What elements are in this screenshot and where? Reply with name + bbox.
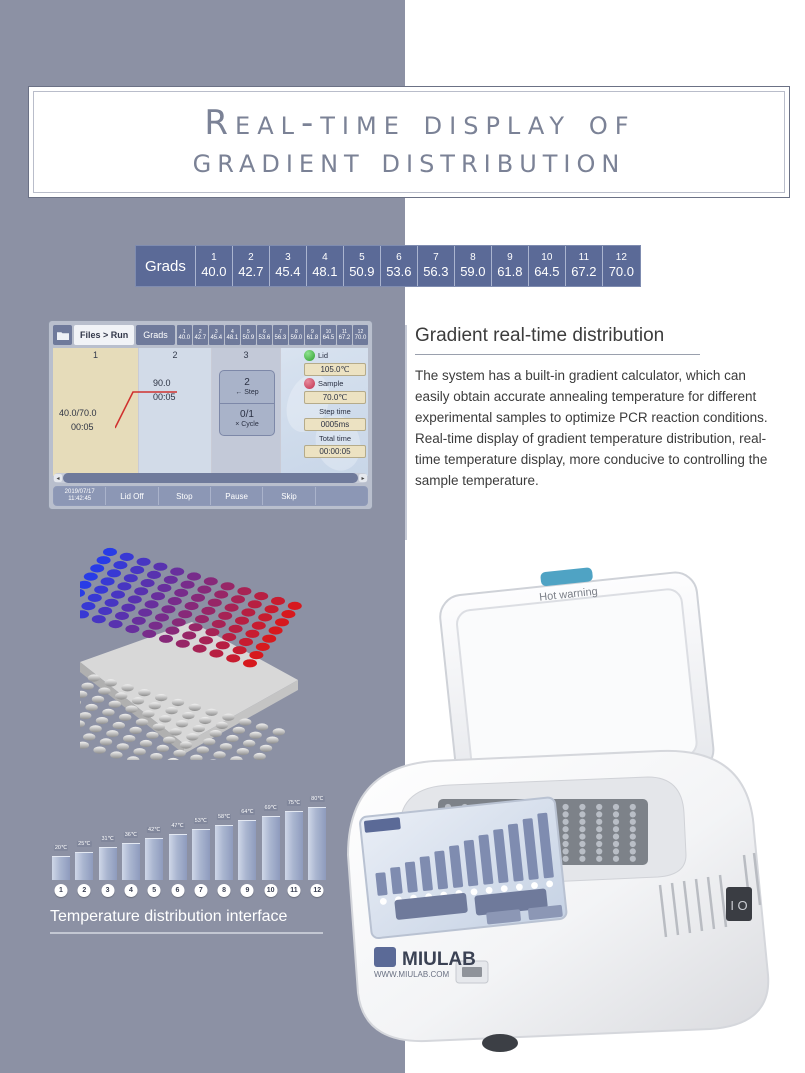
plate-well [117,582,131,590]
plate-tube [149,702,161,709]
pcr-machine-image: Hot warning I O [330,555,805,1055]
pcr-grads-cell: 859.0 [289,325,304,345]
pcr-sample-value: 70.0℃ [304,391,366,404]
plate-well [101,577,115,585]
plate-tube [109,701,121,708]
block-well [596,856,602,862]
plate-well [249,651,263,659]
block-well [613,804,619,810]
plate-well [109,620,123,628]
plate-tube [186,733,198,740]
plate-tube [205,709,217,716]
grads-index: 4 [322,252,328,264]
plate-well [153,563,167,571]
pcr-grads-strip: 140.0 242.7 345.4 448.1 550.9 653.6 756.… [177,325,368,345]
grads-cell: 11 67.2 [566,246,603,286]
grads-cell: 4 48.1 [307,246,344,286]
bar-group: 47℃6 [169,834,187,880]
block-well [579,856,585,862]
block-well [613,856,619,862]
plate-well [201,607,215,615]
bar-group: 36℃4 [122,843,140,880]
plate-well [130,566,144,574]
plate-tube [273,728,285,735]
plate-tube [203,738,215,745]
grads-table: Grads 1 40.0 2 42.7 3 45.4 4 48.1 5 50.9… [135,245,641,287]
block-well [613,826,619,832]
plate-well [80,610,89,618]
plate-tube [189,704,201,711]
plate-tube [190,755,202,760]
bar-rect [285,811,303,880]
plate-tube [197,746,209,753]
bar-rect [308,807,326,880]
pcr-grads-cell: 1064.5 [321,325,336,345]
plate-well [235,617,249,625]
plate-well [239,638,253,646]
plate-well [185,602,199,610]
grads-value: 40.0 [201,264,226,280]
brand-url-label: WWW.MIULAB.COM [374,970,449,979]
empty-button-slot[interactable] [316,487,367,505]
plate-well [214,590,228,598]
plate-well [128,595,142,603]
block-well [579,804,585,810]
bar-group: 80℃12 [308,807,326,880]
bar-rect [215,825,233,880]
plate-well [191,594,205,602]
bar-index-badge: 10 [264,884,277,897]
plate-tube [167,758,179,760]
grads-value: 53.6 [386,264,411,280]
plate-well [269,626,283,634]
plate-well [157,584,171,592]
plate-well [256,643,270,651]
plate-well [281,610,295,618]
plate-well [275,618,289,626]
grads-value: 64.5 [534,264,559,280]
block-well [596,841,602,847]
pcr-grads-cell: 1167.2 [337,325,352,345]
plate-well [248,600,262,608]
grads-cell: 9 61.8 [492,246,529,286]
pcr-grads-cell: 242.7 [193,325,208,345]
plate-tube [106,730,118,737]
plate-tube [165,707,177,714]
pcr-step-cycle-box[interactable]: 2 ← Step 0/1 × Cycle [219,370,275,436]
pcr-grads-value: 56.3 [275,335,287,342]
plate-well [164,576,178,584]
folder-icon[interactable] [53,325,72,345]
plate-well [103,548,117,556]
body-paragraph-2: Real-time display of gradient temperatur… [405,428,775,491]
pcr-grads-cell: 1270.0 [353,325,368,345]
plate-well [138,609,152,617]
plate-tube [93,747,105,754]
plate-well [155,613,169,621]
plate-well [81,602,95,610]
pcr-time: 11:42:45 [68,496,91,503]
plate-tube [230,756,242,760]
plate-tube [150,753,162,760]
bar-group: 58℃8 [215,825,233,880]
plate-well [252,622,266,630]
block-well [596,811,602,817]
pcr-grads-value: 64.5 [323,335,335,342]
plate-tube [102,709,114,716]
plate-well [221,582,235,590]
grads-index: 7 [433,252,439,264]
pcr-grads-cell: 756.3 [273,325,288,345]
pcr-total-time-label: Total time [304,434,366,443]
plate-well [147,571,161,579]
bar-index-badge: 2 [78,884,91,897]
plate-well [237,587,251,595]
bar-group: 20℃1 [52,856,70,880]
grads-index: 1 [211,252,217,264]
plate-tube [80,712,91,719]
bar-temp-label: 80℃ [310,796,324,802]
plate-well [124,574,138,582]
plate-tube [119,714,131,721]
plate-well [204,577,218,585]
plate-tube [138,689,150,696]
bar-temp-label: 75℃ [287,800,301,806]
grads-index: 8 [470,252,476,264]
section-heading: Gradient real-time distribution [405,325,775,347]
plate-well [120,553,134,561]
pcr-protocol-area: 1 2 3 40.0/70.0 00:05 90.0 00:05 2 ← Ste… [53,348,368,476]
plate-tube [220,743,232,750]
pcr-grads-value: 45.4 [210,335,222,342]
bar-temp-label: 36℃ [124,832,138,838]
block-well [630,826,636,832]
plate-well [187,572,201,580]
plate-well [182,631,196,639]
plate-well [229,625,243,633]
block-well [563,848,569,854]
pcr-sample-row: Sample [304,378,366,389]
pcr-grads-cell: 961.8 [305,325,320,345]
plate-tube [115,692,127,699]
plate-well [193,645,207,653]
plate-well [113,561,127,569]
plate-tube [260,745,272,752]
pcr-step2-duration: 00:05 [153,392,176,402]
plate-well [208,599,222,607]
bar-index-badge: 8 [218,884,231,897]
plate-tube [193,725,205,732]
bar-index-badge: 12 [311,884,324,897]
pcr-cycle-label: × Cycle [235,420,259,429]
plate-tube [182,712,194,719]
plate-well [226,654,240,662]
pcr-grads-value: 50.9 [243,335,255,342]
grads-value: 61.8 [497,264,522,280]
plate-well [181,581,195,589]
block-well [630,819,636,825]
block-well [579,819,585,825]
plate-well [149,622,163,630]
bar-index-badge: 5 [148,884,161,897]
bar-temp-label: 47℃ [170,823,184,829]
pcr-sample-label: Sample [318,379,343,388]
block-well [613,848,619,854]
lid-off-button[interactable]: Lid Off [106,487,158,505]
pcr-bottom-toolbar: 2019/07/17 11:42:45 Lid Off Stop Pause S… [53,486,368,506]
bar-index-badge: 7 [194,884,207,897]
chart-caption-underline [50,932,323,934]
plate-well [170,568,184,576]
stop-button[interactable]: Stop [159,487,211,505]
grads-index: 3 [285,252,291,264]
plate-well [165,627,179,635]
block-well [613,834,619,840]
plate-tube [209,730,221,737]
pcr-grads-cell: 550.9 [241,325,256,345]
plate-tube [226,735,238,742]
block-well [630,848,636,854]
plate-well [80,581,91,589]
plate-tube [140,740,152,747]
title-banner-inner: Real-time display of gradient distributi… [33,91,785,193]
pcr-status-panel: Lid 105.0℃ Sample 70.0℃ Step time 0005ms… [304,350,366,458]
scroll-right-icon[interactable]: ▸ [359,474,367,482]
grads-cell: 5 50.9 [344,246,381,286]
plate-well [197,586,211,594]
machine-touchscreen [359,797,567,939]
plate-tube [249,732,261,739]
block-well [563,804,569,810]
pcr-step1-duration: 00:05 [71,422,94,432]
grads-index: 11 [579,252,589,264]
grads-index: 12 [616,252,627,264]
grads-value: 59.0 [460,264,485,280]
bar-index-badge: 6 [171,884,184,897]
temperature-distribution-chart: 20℃125℃231℃336℃442℃547℃653℃758℃864℃969℃1… [52,805,342,900]
plate-well [233,646,247,654]
plate-tube [233,727,245,734]
grads-cell: 2 42.7 [233,246,270,286]
grads-value: 45.4 [275,264,300,280]
plate-well [178,610,192,618]
plate-well [262,635,276,643]
plate-well [172,618,186,626]
pcr-grads-value: 70.0 [355,335,367,342]
block-well [563,841,569,847]
plate-tube [117,743,129,750]
block-well [630,834,636,840]
plate-well [137,558,151,566]
bar-group: 64℃9 [238,820,256,880]
grads-cell: 8 59.0 [455,246,492,286]
block-well [630,856,636,862]
pcr-grads-cell: 345.4 [209,325,224,345]
plate-well [151,592,165,600]
skip-button[interactable]: Skip [263,487,315,505]
plate-tube [110,751,122,758]
pcr-date: 2019/07/17 [65,489,95,496]
pcr-step-label: ← Step [235,388,258,397]
pcr-datetime: 2019/07/17 11:42:45 [54,487,106,505]
plate-tube [213,751,225,758]
text-column: Gradient real-time distribution The syst… [405,325,775,491]
plate-well [189,623,203,631]
plate-tube [89,725,101,732]
bar-temp-label: 42℃ [147,827,161,833]
grads-value: 48.1 [312,264,337,280]
sample-status-icon [304,378,315,389]
bar-rect [238,820,256,880]
plate-tube [80,720,85,727]
plate-well [94,586,108,594]
tab-grads[interactable]: Grads [136,325,175,345]
block-well [579,826,585,832]
bar-rect [192,829,210,880]
bar-rect [99,847,117,880]
tab-files-run[interactable]: Files > Run [74,325,134,345]
block-well [613,841,619,847]
plate-tube [142,710,154,717]
pcr-lid-row: Lid [304,350,366,361]
plate-well [176,640,190,648]
plate-well [134,587,148,595]
bar-rect [52,856,70,880]
lid-status-icon [304,350,315,361]
bar-group: 31℃3 [99,847,117,880]
plate-tube [129,727,141,734]
grads-cell: 12 70.0 [603,246,640,286]
plate-tube [85,704,97,711]
scroll-left-icon[interactable]: ◂ [54,474,62,482]
bar-temp-label: 20℃ [54,845,68,851]
grads-index: 9 [507,252,513,264]
plate-tube [199,717,211,724]
bar-temp-label: 31℃ [100,836,114,842]
plate-well [254,592,268,600]
plate-well [258,613,272,621]
scrollbar-thumb[interactable] [63,473,358,483]
plate-tube [100,738,112,745]
plate-tube [88,674,100,681]
pcr-step-time-value: 0005ms [304,418,366,431]
plate-tube [207,760,219,761]
block-well [596,834,602,840]
plate-tube [92,696,104,703]
bar-index-badge: 3 [101,884,114,897]
pcr-total-time-value: 00:00:05 [304,445,366,458]
plate-tube [216,722,228,729]
bar-group: 75℃11 [285,811,303,880]
pcr-step-column-2[interactable]: 2 [139,348,212,476]
plate-well [107,569,121,577]
pcr-control-screen[interactable]: Files > Run Grads 140.0 242.7 345.4 448.… [48,320,373,510]
pcr-cycle-value: 0/1 [240,409,254,420]
plate-well [245,630,259,638]
pcr-horizontal-scrollbar[interactable]: ◂ ▸ [53,473,368,483]
block-well [596,804,602,810]
block-well [596,848,602,854]
plate-well [205,628,219,636]
bar-group: 25℃2 [75,852,93,880]
pcr-grads-value: 61.8 [307,335,319,342]
block-well [563,819,569,825]
plate-tube [159,715,171,722]
plate-tube [132,697,144,704]
pcr-grads-cell: 448.1 [225,325,240,345]
bar-rect [145,838,163,880]
plate-tube [96,717,108,724]
plate-well [115,612,129,620]
block-well [563,856,569,862]
plate-tube [81,683,93,690]
plate-tube [98,688,110,695]
bar-temp-label: 69℃ [264,805,278,811]
pcr-grads-value: 53.6 [259,335,271,342]
grads-index: 5 [359,252,365,264]
pcr-step1-temperature: 40.0/70.0 [59,408,97,418]
page-title-line-1: Real-time display of [204,106,635,140]
plate-tube [169,728,181,735]
plate-tube [113,722,125,729]
pcr-grads-value: 48.1 [226,335,238,342]
pcr-lid-value: 105.0℃ [304,363,366,376]
plate-tube [153,724,165,731]
plate-tube [105,679,117,686]
plate-well [231,595,245,603]
block-well [596,819,602,825]
plate-well [105,599,119,607]
plate-well [92,615,106,623]
plate-well [98,607,112,615]
brand-label: MIULAB [402,949,476,970]
block-well [563,834,569,840]
grads-index: 2 [248,252,254,264]
page-title-line-2: gradient distribution [193,144,626,178]
pause-button[interactable]: Pause [211,487,263,505]
plate-well [88,594,102,602]
plate-well [265,605,279,613]
plate-tube [163,737,175,744]
bar-index-badge: 9 [241,884,254,897]
chart-caption: Temperature distribution interface [50,908,350,926]
pcr-step-counter: 2 ← Step [220,371,274,404]
grads-value: 70.0 [609,264,634,280]
pcr-step-value: 2 [244,377,250,388]
grads-value: 56.3 [423,264,448,280]
plate-well [132,617,146,625]
bar-temp-label: 58℃ [217,814,231,820]
plate-tube [136,719,148,726]
plate-tube [180,742,192,749]
grads-value: 67.2 [571,264,596,280]
pcr-grads-cell: 140.0 [177,325,192,345]
pcr-column-head: 1 [53,350,138,360]
grads-cell: 1 40.0 [196,246,233,286]
plate-tube [172,699,184,706]
svg-text:I O: I O [730,898,747,913]
pcr-grads-value: 40.0 [178,335,190,342]
grads-value: 42.7 [238,264,263,280]
pcr-column-head: 3 [212,350,280,360]
block-well [579,834,585,840]
plate-well [125,625,139,633]
plate-tube [155,694,167,701]
plate-tube [157,745,169,752]
heading-underline [415,354,700,355]
bar-rect [122,843,140,880]
plate-well [145,600,159,608]
